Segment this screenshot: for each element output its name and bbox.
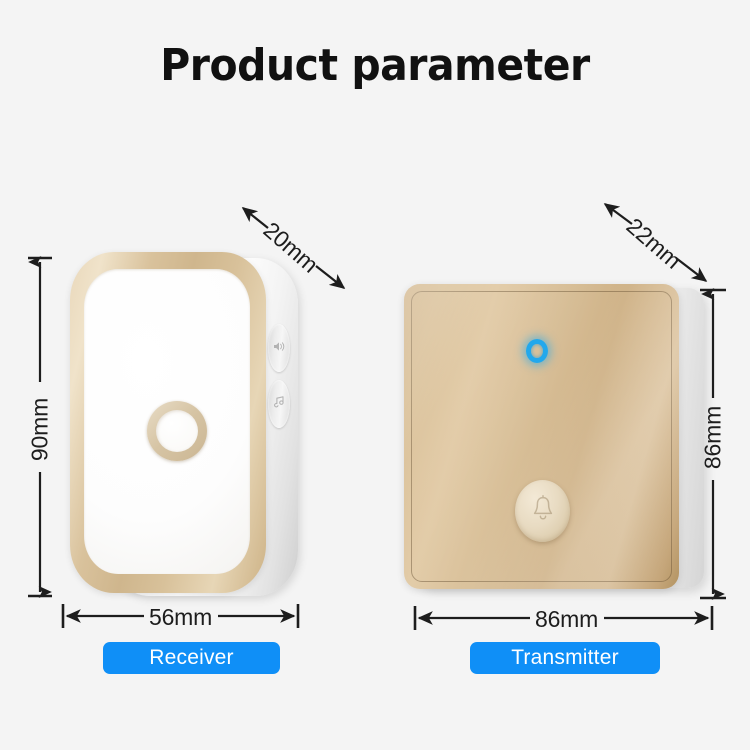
receiver-front-bezel [70, 252, 266, 593]
receiver-melody-button[interactable] [268, 380, 290, 428]
page-title: Product parameter [26, 40, 724, 91]
product-parameter-diagram: Product parameter [0, 0, 750, 750]
receiver-volume-button[interactable] [268, 324, 290, 372]
transmitter-depth-label: 22mm [621, 213, 686, 275]
receiver-height-label: 90mm [27, 393, 54, 467]
receiver-center-ring-button[interactable] [147, 401, 207, 461]
bell-icon [531, 495, 555, 528]
receiver-badge[interactable]: Receiver [103, 642, 280, 674]
transmitter-height-label: 86mm [700, 401, 727, 475]
transmitter-front-panel [404, 284, 679, 589]
transmitter-width-label: 86mm [535, 606, 598, 633]
led-ring-icon [526, 339, 548, 363]
transmitter-badge[interactable]: Transmitter [470, 642, 660, 674]
transmitter-bell-button[interactable] [515, 480, 570, 542]
receiver-product-image [70, 252, 305, 600]
volume-icon [273, 339, 286, 357]
receiver-width-label: 56mm [149, 604, 212, 631]
music-note-icon [274, 395, 285, 413]
transmitter-product-image [402, 278, 702, 598]
receiver-face-panel [84, 269, 250, 574]
